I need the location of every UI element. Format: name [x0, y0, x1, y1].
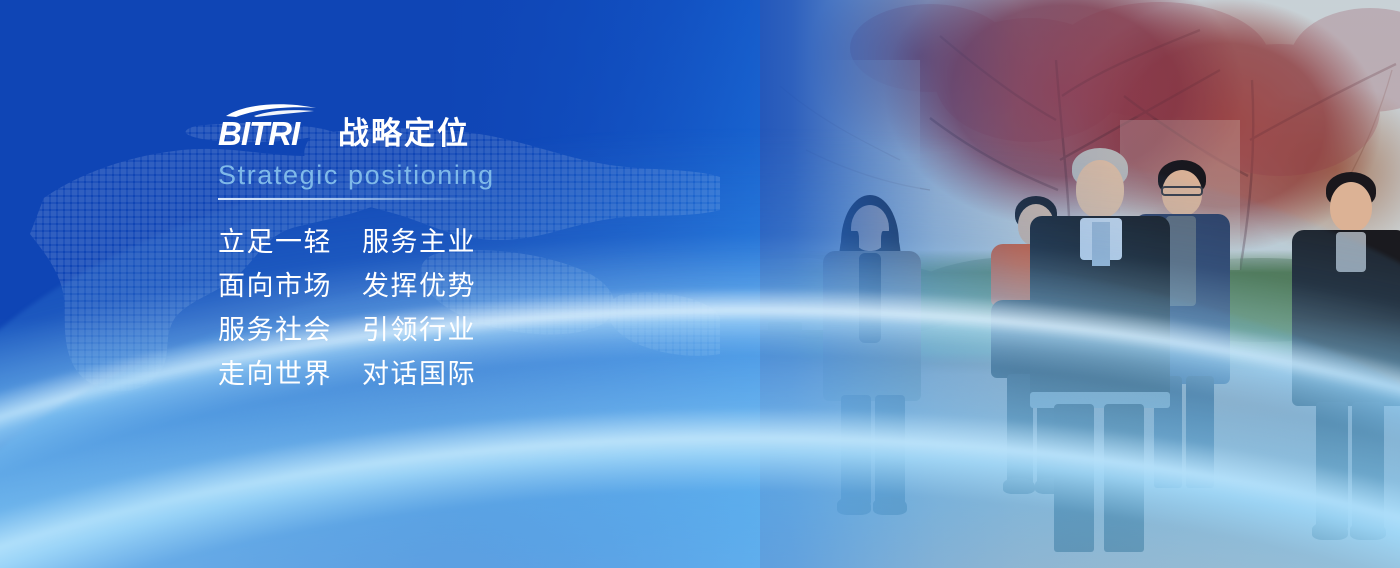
subtitle-en: Strategic positioning: [218, 160, 738, 191]
slogan-left: 服务社会: [218, 308, 332, 352]
shirt-front: [1092, 222, 1110, 266]
slogan-row: 面向市场 发挥优势: [218, 264, 738, 308]
jacket-hem: [1030, 392, 1170, 408]
slogan-right: 对话国际: [362, 352, 476, 396]
slogan-right: 发挥优势: [362, 264, 476, 308]
inner-collar: [1336, 232, 1366, 272]
brand-lockup: BITRI 战略定位: [218, 104, 738, 150]
slogan-list: 立足一轻 服务主业 面向市场 发挥优势 服务社会 引领行业 走向世界 对话国际: [218, 220, 738, 396]
slogan-left: 立足一轻: [218, 220, 332, 264]
headline-cn: 战略定位: [338, 118, 470, 150]
slogan-right: 服务主业: [362, 220, 476, 264]
banner-content: BITRI 战略定位 Strategic positioning 立足一轻 服务…: [218, 104, 738, 396]
bitri-logo-text: BITRI: [218, 117, 299, 150]
person-man-black-jacket-center: [1020, 148, 1180, 548]
slogan-row: 走向世界 对话国际: [218, 352, 738, 396]
slogan-row: 服务社会 引领行业: [218, 308, 738, 352]
slogan-left: 走向世界: [218, 352, 332, 396]
title-divider: [218, 198, 503, 200]
person-woman-grey-jacket: [815, 195, 935, 525]
slogan-row: 立足一轻 服务主业: [218, 220, 738, 264]
person-man-black-jacket-right: [1290, 172, 1400, 542]
slogan-right: 引领行业: [362, 308, 476, 352]
slogan-left: 面向市场: [218, 264, 332, 308]
strategic-positioning-banner: BITRI 战略定位 Strategic positioning 立足一轻 服务…: [0, 0, 1400, 568]
bitri-logo: BITRI: [218, 104, 322, 150]
